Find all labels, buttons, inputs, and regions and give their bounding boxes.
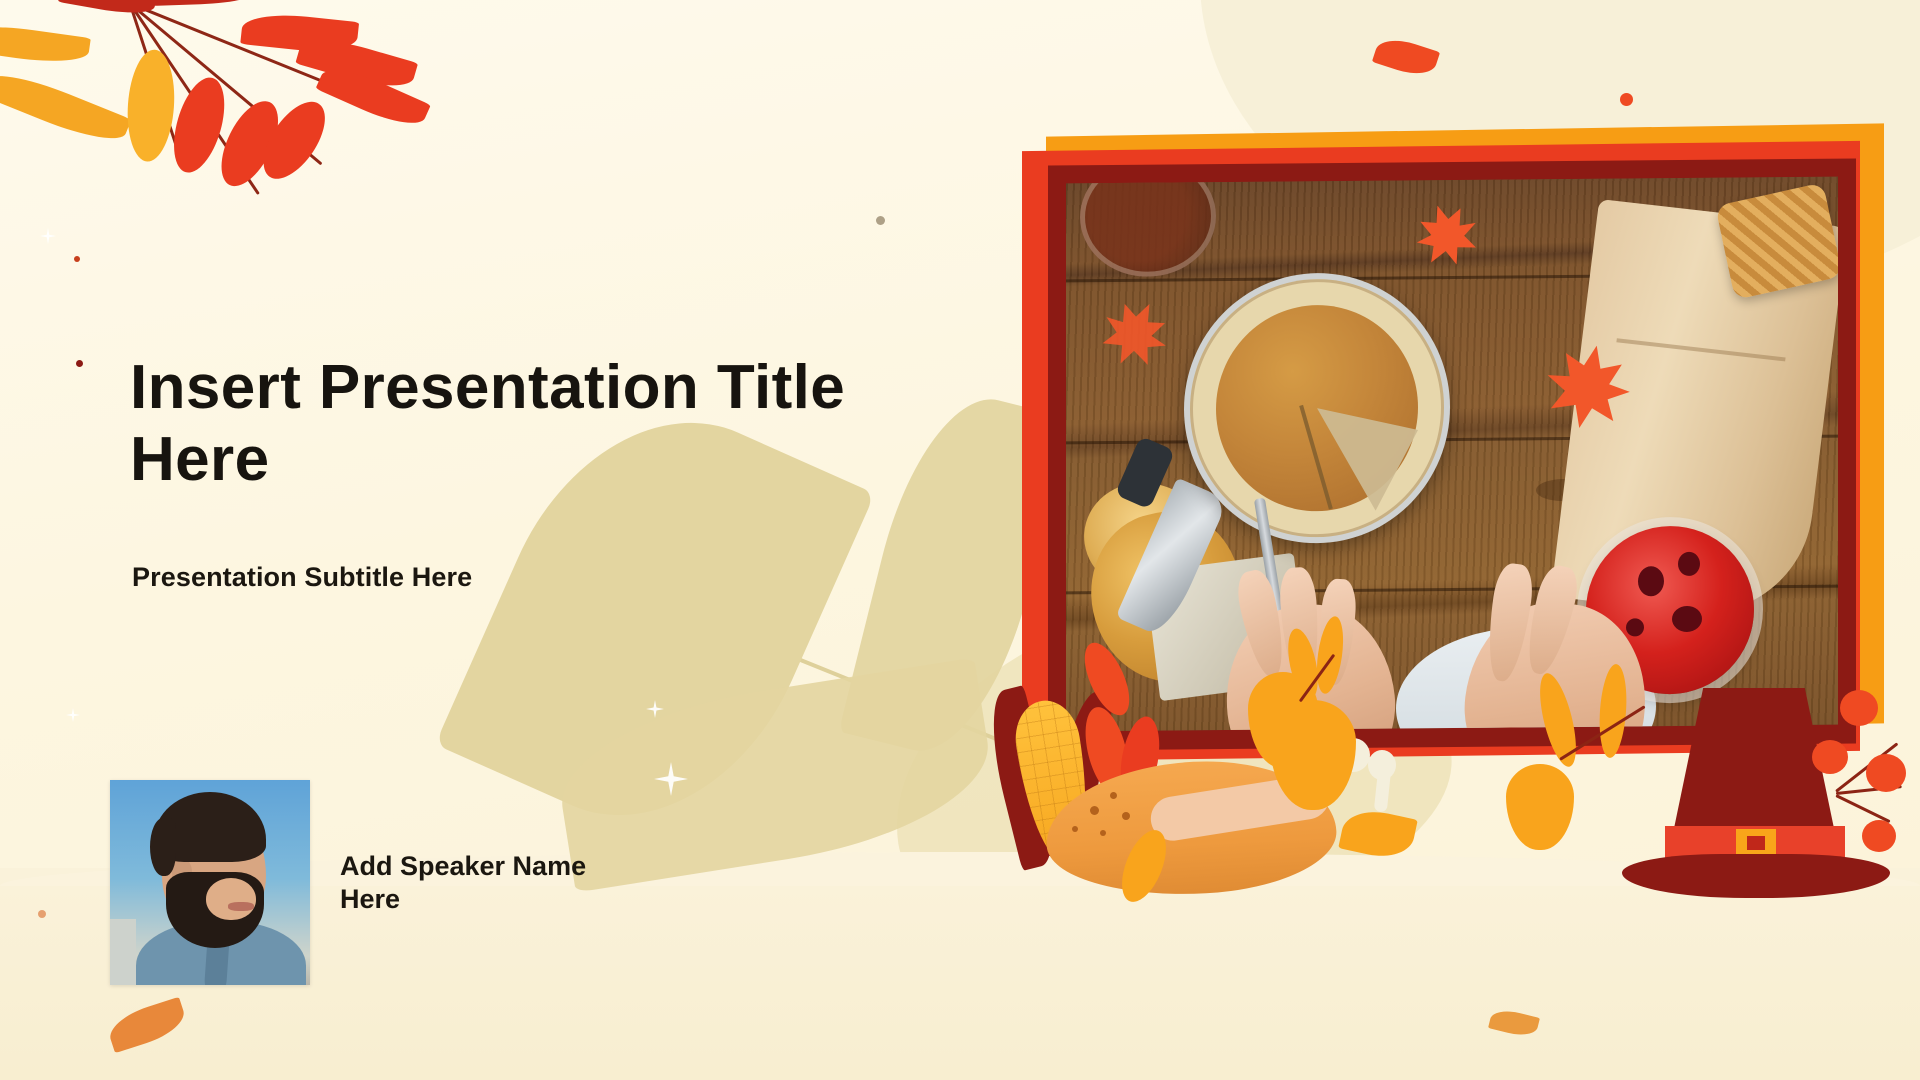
berry xyxy=(1840,690,1878,726)
pilgrim-hat-buckle-hole xyxy=(1747,836,1765,850)
avatar-lips xyxy=(228,902,254,911)
avatar xyxy=(110,780,310,985)
presentation-slide: Insert Presentation Title Here Presentat… xyxy=(0,0,1920,1080)
decor-dot xyxy=(1620,93,1633,106)
decor-dot xyxy=(76,360,83,367)
photo-frame xyxy=(1022,130,1884,770)
turkey-speck xyxy=(1072,826,1078,832)
berry xyxy=(1866,754,1906,792)
page-subtitle: Presentation Subtitle Here xyxy=(132,562,472,593)
page-title: Insert Presentation Title Here xyxy=(130,352,950,496)
cranberry xyxy=(1678,552,1700,576)
decor-dot xyxy=(38,910,46,918)
avatar-sideburn xyxy=(150,818,176,876)
speaker-block: Add Speaker Name Here xyxy=(110,780,630,985)
avatar-background-building xyxy=(110,919,136,985)
thanksgiving-photo xyxy=(1066,177,1838,732)
berry xyxy=(1812,740,1848,774)
speaker-name: Add Speaker Name Here xyxy=(340,850,630,916)
avatar-cheek xyxy=(206,878,256,920)
turkey-speck xyxy=(1090,806,1099,815)
cranberry xyxy=(1626,618,1644,636)
berry xyxy=(1862,820,1896,852)
turkey-speck xyxy=(1110,792,1117,799)
cranberry xyxy=(1638,566,1664,596)
decor-dot xyxy=(876,216,885,225)
turkey-speck xyxy=(1100,830,1106,836)
decor-dot xyxy=(74,256,80,262)
autumn-leaf-spray-icon xyxy=(0,0,470,240)
cranberry xyxy=(1672,606,1702,632)
turkey-speck xyxy=(1122,812,1130,820)
